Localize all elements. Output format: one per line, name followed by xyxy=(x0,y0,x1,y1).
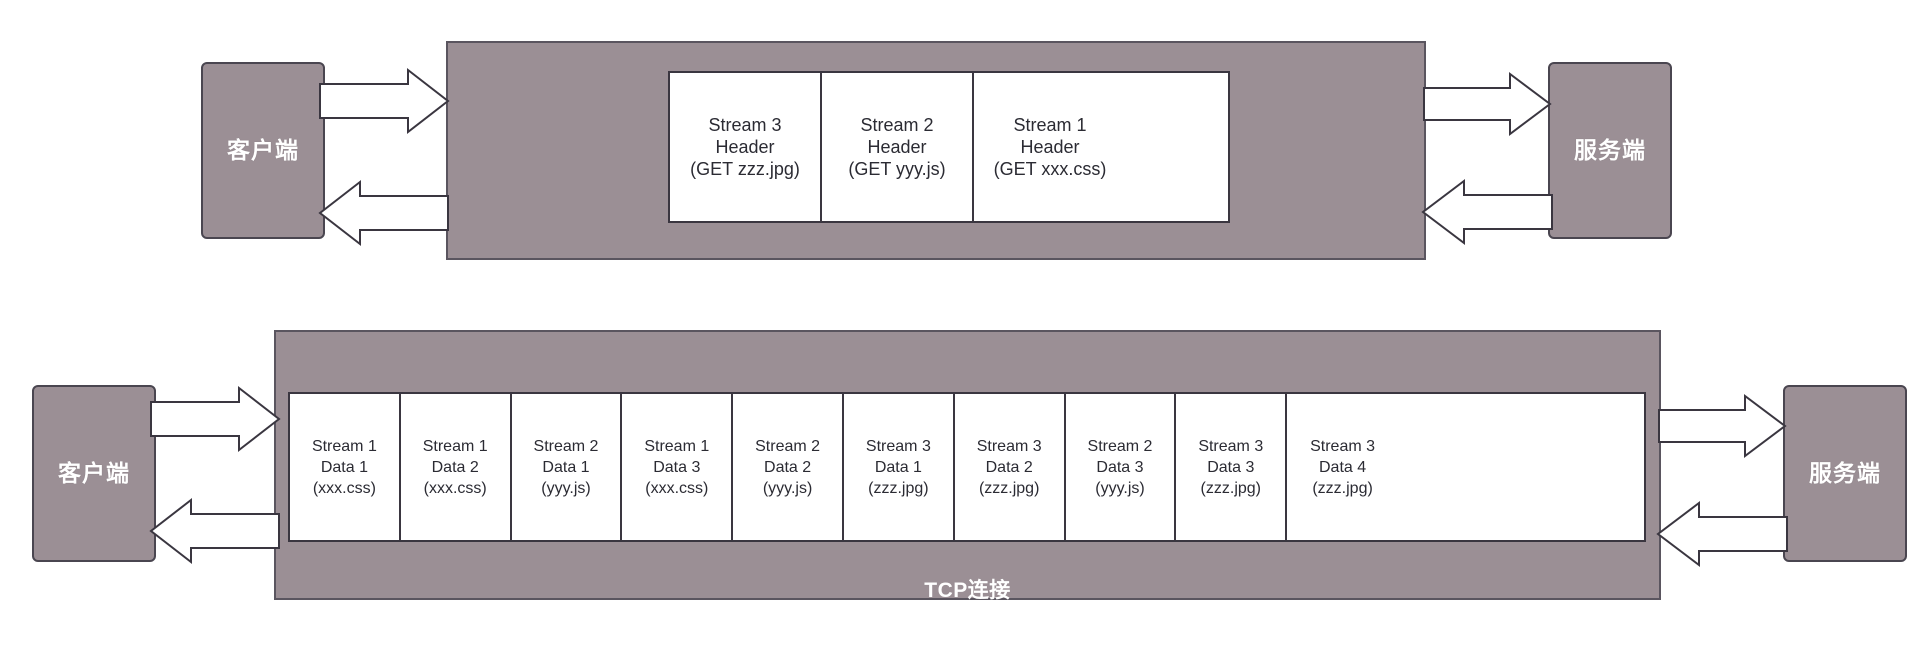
frame-line-1: Stream 2 xyxy=(860,114,933,136)
frame-line-1: Stream 3 xyxy=(1198,436,1263,457)
frame-line-2: Data 3 xyxy=(1207,457,1254,478)
frame-line-2: Header xyxy=(1020,136,1079,158)
top-arrow-server-to-pipe xyxy=(1418,181,1554,243)
frame-line-2: Data 3 xyxy=(1096,457,1143,478)
bottom-frame-cell[interactable]: Stream 3 Data 1 (zzz.jpg) xyxy=(844,394,955,540)
frame-line-1: Stream 2 xyxy=(755,436,820,457)
frame-line-2: Data 3 xyxy=(653,457,700,478)
frame-line-1: Stream 3 xyxy=(708,114,781,136)
diagram-canvas: 客户端 Stream 3 Header (GET zzz.jpg) Stream… xyxy=(0,0,1920,651)
frame-line-2: Data 1 xyxy=(321,457,368,478)
frame-line-2: Data 2 xyxy=(432,457,479,478)
top-frame-cell[interactable]: Stream 2 Header (GET yyy.js) xyxy=(822,73,974,221)
top-client-box[interactable]: 客户端 xyxy=(201,62,325,239)
frame-line-3: (yyy.js) xyxy=(541,478,590,499)
frame-line-2: Header xyxy=(867,136,926,158)
frame-line-1: Stream 1 xyxy=(644,436,709,457)
bottom-server-label: 服务端 xyxy=(1809,462,1881,485)
tcp-connection-label: TCP连接 xyxy=(276,574,1659,604)
bottom-arrow-server-to-pipe xyxy=(1653,503,1789,565)
top-frame-cell[interactable]: Stream 3 Header (GET zzz.jpg) xyxy=(670,73,822,221)
frame-line-1: Stream 1 xyxy=(312,436,377,457)
frame-line-3: (zzz.jpg) xyxy=(979,478,1039,499)
bottom-frame-cell[interactable]: Stream 1 Data 1 (xxx.css) xyxy=(290,394,401,540)
top-arrow-client-to-pipe xyxy=(320,70,450,132)
frame-line-3: (zzz.jpg) xyxy=(1312,478,1372,499)
bottom-arrow-pipe-to-client xyxy=(146,500,281,562)
top-arrow-pipe-to-client xyxy=(315,182,450,244)
bottom-server-box[interactable]: 服务端 xyxy=(1783,385,1907,562)
top-frame-row: Stream 3 Header (GET zzz.jpg) Stream 2 H… xyxy=(668,71,1230,223)
frame-line-3: (xxx.css) xyxy=(424,478,487,499)
frame-line-1: Stream 1 xyxy=(1013,114,1086,136)
frame-line-3: (GET zzz.jpg) xyxy=(690,158,800,180)
bottom-arrow-pipe-to-server xyxy=(1659,396,1787,456)
frame-line-1: Stream 3 xyxy=(1310,436,1375,457)
frame-line-1: Stream 3 xyxy=(977,436,1042,457)
bottom-frame-cell[interactable]: Stream 2 Data 1 (yyy.js) xyxy=(512,394,623,540)
frame-line-2: Data 2 xyxy=(764,457,811,478)
frame-line-3: (xxx.css) xyxy=(313,478,376,499)
bottom-frame-row: Stream 1 Data 1 (xxx.css) Stream 1 Data … xyxy=(288,392,1646,542)
bottom-frame-cell[interactable]: Stream 1 Data 3 (xxx.css) xyxy=(622,394,733,540)
frame-line-2: Data 1 xyxy=(875,457,922,478)
bottom-arrow-client-to-pipe xyxy=(151,388,281,450)
top-client-label: 客户端 xyxy=(227,139,299,162)
frame-line-3: (zzz.jpg) xyxy=(1201,478,1261,499)
frame-line-3: (GET yyy.js) xyxy=(848,158,945,180)
frame-line-3: (yyy.js) xyxy=(1095,478,1144,499)
bottom-frame-cell[interactable]: Stream 2 Data 3 (yyy.js) xyxy=(1066,394,1177,540)
frame-line-2: Data 1 xyxy=(542,457,589,478)
top-frame-cell[interactable]: Stream 1 Header (GET xxx.css) xyxy=(974,73,1126,221)
bottom-frame-cell[interactable]: Stream 3 Data 4 (zzz.jpg) xyxy=(1287,394,1398,540)
bottom-frame-cell[interactable]: Stream 2 Data 2 (yyy.js) xyxy=(733,394,844,540)
frame-line-2: Header xyxy=(715,136,774,158)
bottom-client-label: 客户端 xyxy=(58,462,130,485)
frame-line-3: (zzz.jpg) xyxy=(868,478,928,499)
frame-line-1: Stream 2 xyxy=(1088,436,1153,457)
bottom-client-box[interactable]: 客户端 xyxy=(32,385,156,562)
frame-line-2: Data 2 xyxy=(986,457,1033,478)
top-server-label: 服务端 xyxy=(1574,139,1646,162)
frame-line-1: Stream 2 xyxy=(534,436,599,457)
frame-line-2: Data 4 xyxy=(1319,457,1366,478)
frame-line-3: (GET xxx.css) xyxy=(994,158,1107,180)
bottom-frame-cell[interactable]: Stream 1 Data 2 (xxx.css) xyxy=(401,394,512,540)
frame-line-3: (yyy.js) xyxy=(763,478,812,499)
frame-line-1: Stream 1 xyxy=(423,436,488,457)
frame-line-3: (xxx.css) xyxy=(645,478,708,499)
frame-line-1: Stream 3 xyxy=(866,436,931,457)
bottom-frame-cell[interactable]: Stream 3 Data 3 (zzz.jpg) xyxy=(1176,394,1287,540)
top-arrow-pipe-to-server xyxy=(1424,74,1552,134)
top-server-box[interactable]: 服务端 xyxy=(1548,62,1672,239)
bottom-frame-cell[interactable]: Stream 3 Data 2 (zzz.jpg) xyxy=(955,394,1066,540)
